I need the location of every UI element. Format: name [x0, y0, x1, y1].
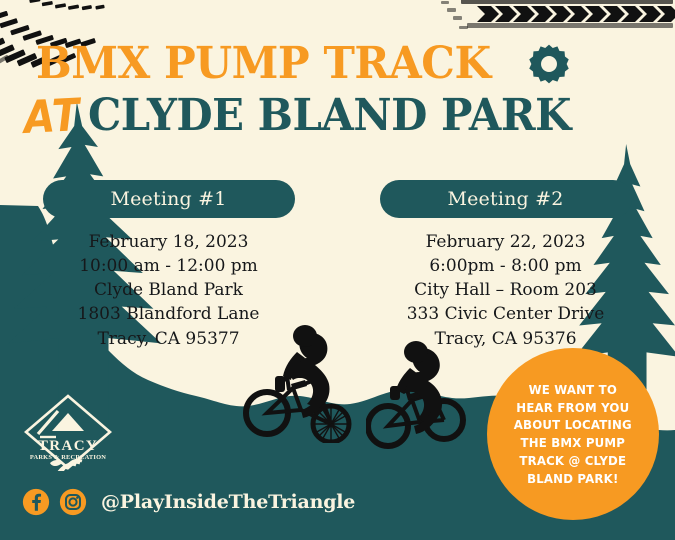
meeting-1-label: Meeting #1 — [43, 180, 295, 218]
page-title: BMX PUMP TRACK — [36, 42, 491, 86]
meeting-card-1: Meeting #1 February 18, 2023 10:00 am - … — [0, 180, 337, 351]
meeting-2-date: February 22, 2023 — [407, 230, 605, 254]
meeting-1-venue: Clyde Bland Park — [78, 278, 260, 302]
meeting-2-venue: City Hall – Room 203 — [407, 278, 605, 302]
meeting-2-time: 6:00pm - 8:00 pm — [407, 254, 605, 278]
page-subtitle: CLYDE BLAND PARK — [88, 94, 571, 138]
headline-line-1: BMX PUMP TRACK — [36, 42, 570, 86]
meeting-1-street: 1803 Blandford Lane — [78, 302, 260, 326]
instagram-icon[interactable] — [59, 488, 87, 516]
logo-tagline: PARKS & RECREATION — [30, 454, 106, 461]
meeting-1-details: February 18, 2023 10:00 am - 12:00 pm Cl… — [78, 230, 260, 351]
cta-line-2: HEAR FROM YOU — [514, 399, 632, 417]
page-title-at: AT — [23, 93, 82, 141]
cta-line-6: BLAND PARK! — [514, 470, 632, 488]
meetings-section: Meeting #1 February 18, 2023 10:00 am - … — [0, 180, 675, 351]
cta-line-4: THE BMX PUMP — [514, 434, 632, 452]
facebook-icon[interactable] — [22, 488, 50, 516]
cta-line-1: WE WANT TO — [514, 381, 632, 399]
meeting-2-label: Meeting #2 — [380, 180, 632, 218]
call-to-action-badge: WE WANT TO HEAR FROM YOU ABOUT LOCATING … — [487, 348, 659, 520]
meeting-1-time: 10:00 am - 12:00 pm — [78, 254, 260, 278]
poster-headline: BMX PUMP TRACK AT CLYDE BLAND PARK — [0, 42, 675, 157]
poster-canvas: BMX PUMP TRACK AT CLYDE BLAND PARK Meeti… — [0, 0, 675, 540]
social-handle[interactable]: @PlayInsideTheTriangle — [101, 491, 355, 513]
meeting-1-city: Tracy, CA 95377 — [78, 327, 260, 351]
social-bar: @PlayInsideTheTriangle — [22, 488, 355, 516]
tire-track-icon — [431, 0, 675, 38]
headline-line-2: AT CLYDE BLAND PARK — [24, 94, 597, 138]
cta-line-3: ABOUT LOCATING — [514, 416, 632, 434]
meeting-2-street: 333 Civic Center Drive — [407, 302, 605, 326]
call-to-action-text: WE WANT TO HEAR FROM YOU ABOUT LOCATING … — [506, 381, 639, 488]
tracy-parks-recreation-logo: TRACY PARKS & RECREATION — [22, 393, 114, 471]
meeting-1-date: February 18, 2023 — [78, 230, 260, 254]
bmx-rider-icon — [366, 336, 466, 451]
meeting-2-details: February 22, 2023 6:00pm - 8:00 pm City … — [407, 230, 605, 351]
gear-icon — [528, 43, 570, 85]
logo-name: TRACY — [38, 438, 98, 454]
meeting-card-2: Meeting #2 February 22, 2023 6:00pm - 8:… — [337, 180, 674, 351]
meeting-2-city: Tracy, CA 95376 — [407, 327, 605, 351]
cta-line-5: TRACK @ CLYDE — [514, 452, 632, 470]
